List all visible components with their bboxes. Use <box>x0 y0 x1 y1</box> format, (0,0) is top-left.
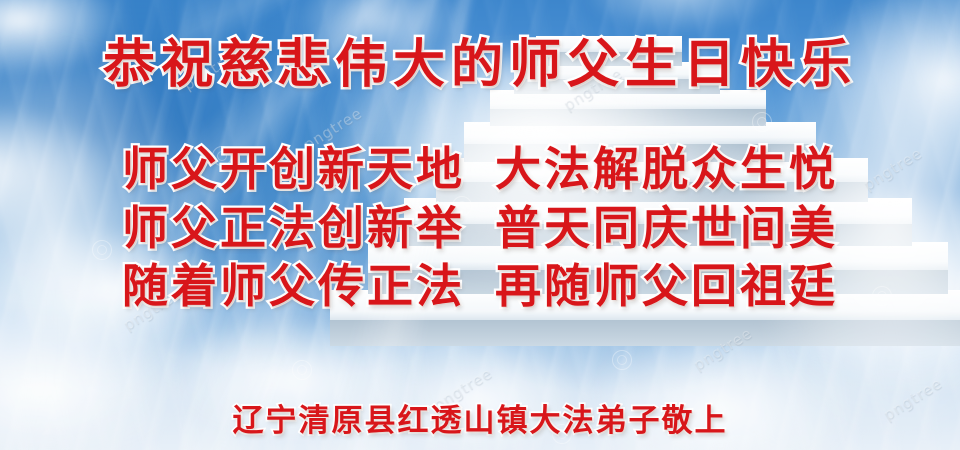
verse-line-1: 师父开创新天地 大法解脱众生悦 <box>0 133 960 199</box>
verse-line-3: 随着师父传正法 再随师父回祖廷 <box>0 250 960 316</box>
text-layer: 恭祝慈悲伟大的师父生日快乐 师父开创新天地 大法解脱众生悦 师父正法创新举 普天… <box>0 0 960 450</box>
verse-2-right: 普天同庆世间美 <box>495 192 838 258</box>
verse-3-left: 随着师父传正法 <box>122 250 465 316</box>
birthday-greeting-poster: pngtreepngtreepngtreepngtreepngtreepngtr… <box>0 0 960 450</box>
signature-line: 辽宁清原县红透山镇大法弟子敬上 <box>0 395 960 440</box>
verse-3-right: 再随师父回祖廷 <box>495 250 838 316</box>
verse-2-left: 师父正法创新举 <box>122 192 465 258</box>
verse-1-left: 师父开创新天地 <box>122 133 465 199</box>
poster-title: 恭祝慈悲伟大的师父生日快乐 <box>0 22 960 97</box>
verse-line-2: 师父正法创新举 普天同庆世间美 <box>0 192 960 258</box>
verse-1-right: 大法解脱众生悦 <box>495 133 838 199</box>
